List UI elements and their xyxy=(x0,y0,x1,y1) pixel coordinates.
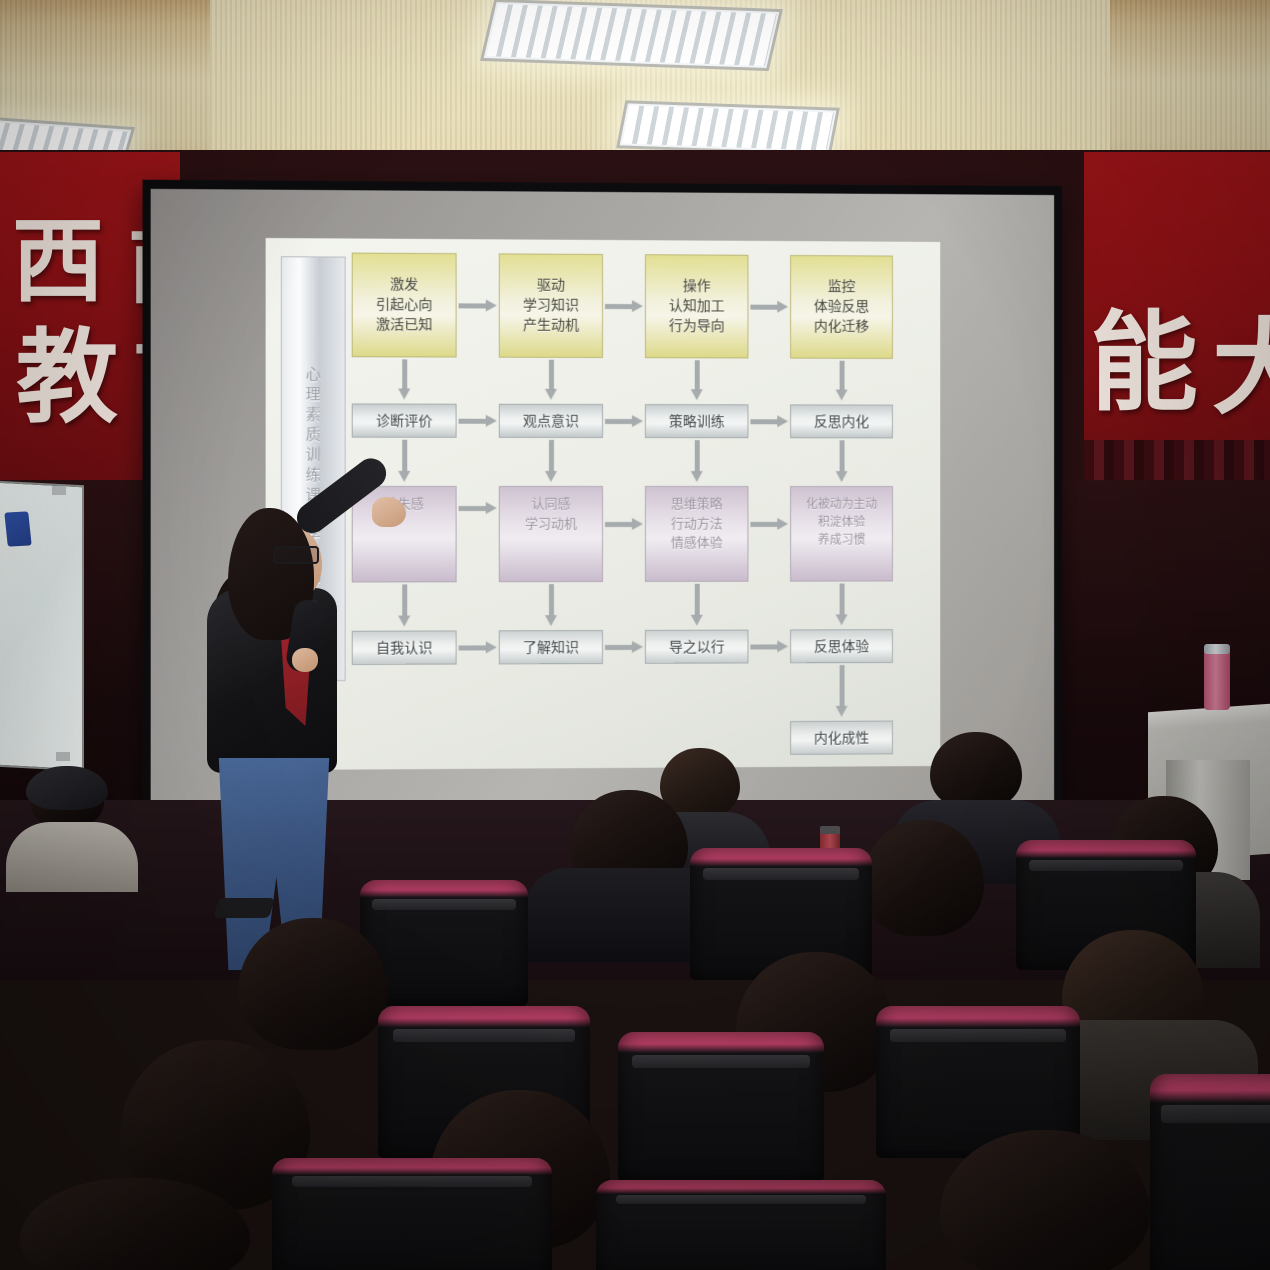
flow-node-line: 学习知识 xyxy=(523,295,579,316)
flow-node: 思维策略 行动方法 情感体验 xyxy=(645,486,749,582)
lecture-hall-photo: 西 南 教 育 能 大 心理素质训练课教学模式 激发 引起心向 xyxy=(0,0,1270,1270)
flow-node-line: 化被动为主动 xyxy=(806,495,877,513)
presenter-mic-hand xyxy=(292,648,318,672)
flow-node-line: 学习动机 xyxy=(525,515,577,535)
flow-node-line: 认知加工 xyxy=(669,296,725,316)
whiteboard-clip xyxy=(52,486,66,495)
flow-arrow-right xyxy=(750,419,778,424)
flow-node-line: 行为导向 xyxy=(669,316,725,336)
flow-arrow-right xyxy=(459,645,487,650)
flow-node-line: 诊断评价 xyxy=(376,411,432,431)
auditorium-seat xyxy=(618,1032,824,1182)
flow-arrow-right xyxy=(750,305,778,310)
flow-arrow-down xyxy=(695,584,700,616)
flow-node-line: 激发 xyxy=(390,274,418,295)
flow-node-line: 产生动机 xyxy=(523,316,579,337)
flow-node-line: 了解知识 xyxy=(523,637,579,657)
flow-arrow-right xyxy=(605,304,633,309)
flow-node-line: 导之以行 xyxy=(669,637,725,657)
flow-node-line: 反思体验 xyxy=(814,636,869,656)
flow-node-line: 自我认识 xyxy=(376,638,432,658)
flow-node: 导之以行 xyxy=(645,630,749,664)
flow-arrow-down xyxy=(695,440,700,472)
presentation-slide: 心理素质训练课教学模式 激发 引起心向 激活已知 驱动 学习知识 产生动机 xyxy=(266,238,941,770)
flow-arrow-down xyxy=(840,440,845,472)
flow-node-line: 引起心向 xyxy=(376,295,432,316)
whiteboard-clip xyxy=(56,752,70,761)
flow-node-line: 积淀体验 xyxy=(818,513,865,531)
flow-node-line: 养成习惯 xyxy=(818,531,865,549)
thermos-cap xyxy=(1204,644,1230,654)
flow-node-line: 内化迁移 xyxy=(814,317,869,337)
audience-shoulders xyxy=(6,822,138,892)
flow-node-line: 监控 xyxy=(828,277,856,297)
flow-arrow-down xyxy=(549,360,554,390)
flow-arrow-down xyxy=(695,360,700,390)
flow-node: 内化成性 xyxy=(790,721,893,755)
flow-node-line: 策略训练 xyxy=(669,411,725,431)
audience-head xyxy=(862,820,984,936)
flow-arrow-right xyxy=(605,645,633,650)
flow-node: 反思体验 xyxy=(790,629,893,663)
flow-arrow-down xyxy=(402,359,407,389)
pink-thermos-bottle xyxy=(1204,648,1230,710)
flow-arrow-down xyxy=(549,440,554,472)
flow-node: 监控 体验反思 内化迁移 xyxy=(790,255,893,359)
flow-node-line: 体验反思 xyxy=(814,297,869,317)
flow-arrow-right xyxy=(750,644,778,649)
flow-arrow-right xyxy=(605,522,633,527)
ceiling-light-center xyxy=(480,0,783,71)
presenter-shoe xyxy=(213,898,275,918)
flow-node: 策略训练 xyxy=(645,404,749,438)
flow-arrow-down xyxy=(840,665,845,707)
flow-node-line: 激活已知 xyxy=(376,315,432,336)
flow-node: 缺失感 xyxy=(352,486,457,583)
flow-node-line: 认同感 xyxy=(531,495,570,515)
flow-node: 认同感 学习动机 xyxy=(499,486,603,582)
audience-head xyxy=(930,732,1022,810)
flow-arrow-right xyxy=(459,419,487,424)
red-bottle-cap xyxy=(820,826,840,834)
flow-node: 自我认识 xyxy=(352,630,457,665)
flow-node-line: 驱动 xyxy=(537,275,565,295)
flow-arrow-down xyxy=(840,584,845,616)
auditorium-seat xyxy=(596,1180,886,1270)
flow-arrow-right xyxy=(750,522,778,527)
flow-node: 诊断评价 xyxy=(352,403,457,437)
flow-arrow-right xyxy=(459,506,487,511)
flow-node-line: 操作 xyxy=(683,276,711,296)
banner-char: 西 xyxy=(12,216,104,308)
flow-node-line: 反思内化 xyxy=(814,411,869,431)
flow-node-line: 情感体验 xyxy=(671,534,723,554)
audience-head xyxy=(238,918,388,1050)
flow-arrow-right xyxy=(459,303,487,308)
flowchart: 激发 引起心向 激活已知 驱动 学习知识 产生动机 操作 认知加工 行为导向 xyxy=(352,253,927,766)
flow-node: 操作 认知加工 行为导向 xyxy=(645,254,749,358)
presenter-glasses xyxy=(273,546,319,564)
banner-char: 教 xyxy=(16,328,118,430)
flow-node-line: 内化成性 xyxy=(814,728,869,748)
flow-arrow-down xyxy=(549,584,554,616)
flow-arrow-down xyxy=(840,361,845,391)
whiteboard-eraser xyxy=(4,511,31,546)
flow-node: 化被动为主动 积淀体验 养成习惯 xyxy=(790,486,893,582)
audience-cap xyxy=(26,766,108,810)
auditorium-seat xyxy=(272,1158,552,1270)
auditorium-seat xyxy=(1150,1074,1270,1270)
flow-node-line: 观点意识 xyxy=(523,411,579,431)
banner-char: 能 xyxy=(1090,310,1198,418)
banner-char: 大 xyxy=(1212,316,1270,420)
flow-arrow-down xyxy=(402,584,407,616)
flow-node-line: 思维策略 xyxy=(671,495,723,514)
presenter-pointing-hand xyxy=(372,497,406,527)
flow-node: 了解知识 xyxy=(499,630,603,664)
flow-node: 驱动 学习知识 产生动机 xyxy=(499,253,603,358)
flow-arrow-right xyxy=(605,419,633,424)
flow-node: 反思内化 xyxy=(790,404,893,438)
flow-node: 观点意识 xyxy=(499,404,603,438)
banner-right: 能 大 xyxy=(1084,152,1270,482)
flow-node: 激发 引起心向 激活已知 xyxy=(352,253,457,358)
flow-arrow-down xyxy=(402,440,407,472)
ceiling-light-mid xyxy=(616,100,840,156)
flow-node-line: 行动方法 xyxy=(671,514,723,533)
